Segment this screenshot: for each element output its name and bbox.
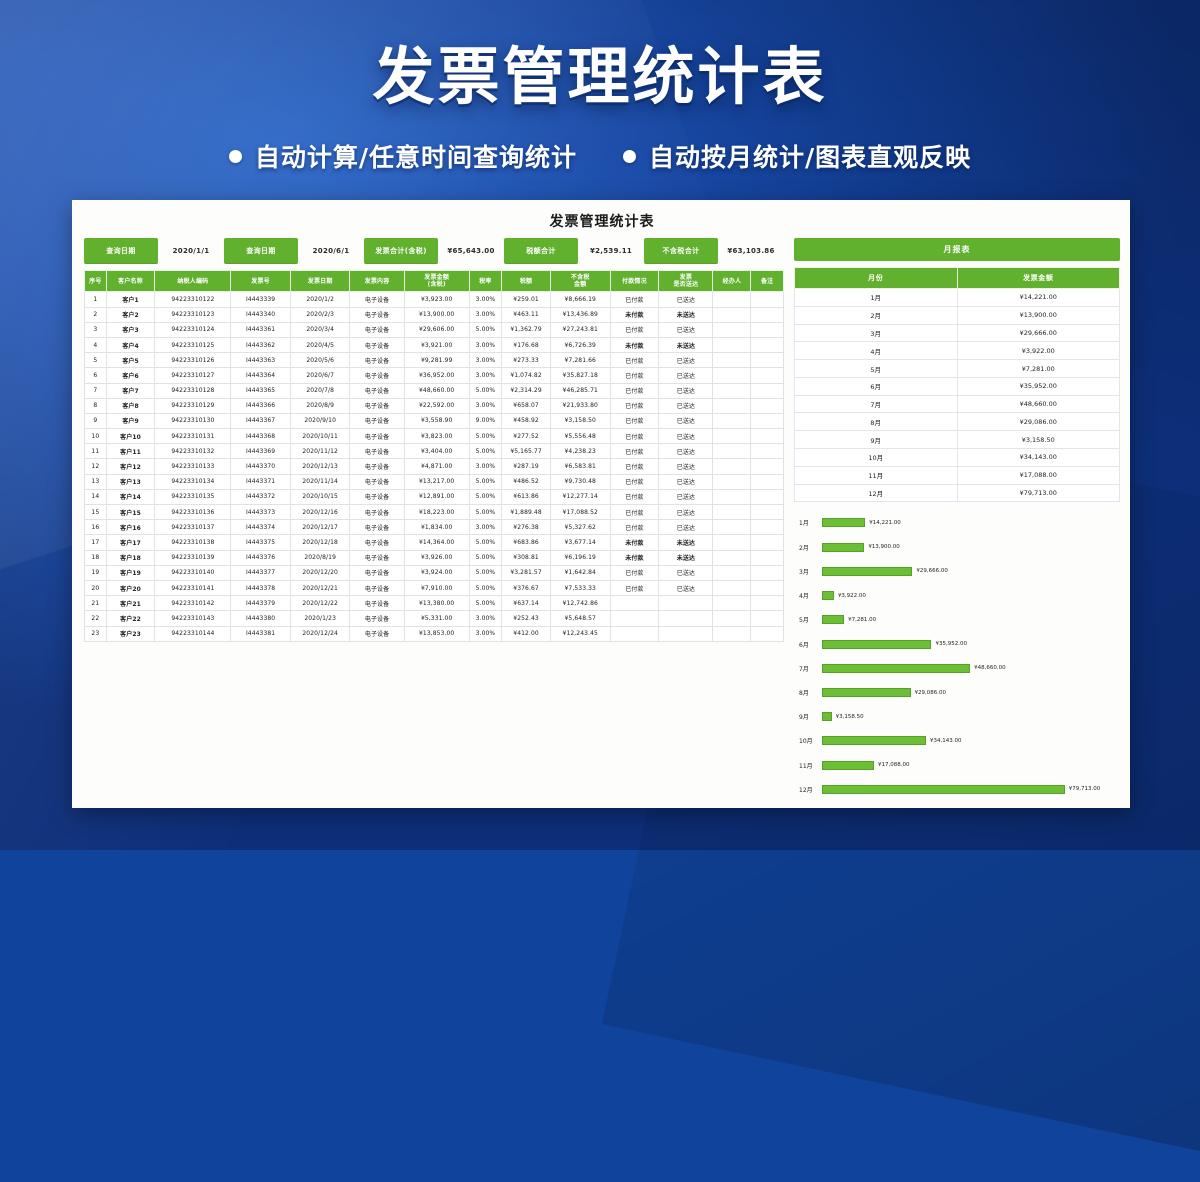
bar-data-label: ¥29,086.00 [915,690,947,696]
cell-7: 5.00% [469,550,502,565]
table-row[interactable]: 2客户294223310123I44433402020/2/3电子设备¥13,9… [85,307,784,322]
cell-3: I4443370 [231,459,291,474]
cell-8: ¥252.43 [502,611,551,626]
cell-0: 10 [85,429,107,444]
monthly-row[interactable]: 8月¥29,086.00 [795,413,1120,431]
cell-6: ¥3,558.90 [404,413,469,428]
cell-13 [751,626,784,641]
cell-8: ¥273.33 [502,353,551,368]
status-badge-delivery: 已送达 [659,459,713,474]
status-badge-payment: 已付款 [610,368,659,383]
cell-customer: 客户21 [106,596,155,611]
cell-customer: 客户5 [106,353,155,368]
cell-5: 电子设备 [350,535,404,550]
cell-8: ¥277.52 [502,429,551,444]
cell-4: 2020/11/12 [290,444,350,459]
cell-12 [713,368,751,383]
bar-category-label: 3月 [796,567,822,576]
table-row[interactable]: 5客户594223310126I44433632020/5/6电子设备¥9,28… [85,353,784,368]
status-badge-payment [610,596,659,611]
cell-customer: 客户23 [106,626,155,641]
status-badge-payment: 未付款 [610,535,659,550]
cell-6: ¥13,853.00 [404,626,469,641]
cell-4: 2020/9/10 [290,413,350,428]
cell-5: 电子设备 [350,459,404,474]
bar-data-label: ¥79,713.00 [1069,786,1101,792]
cell-0: 20 [85,580,107,595]
cell-5: 电子设备 [350,550,404,565]
cell-5: 电子设备 [350,383,404,398]
subtitle-text-1: 自动计算/任意时间查询统计 [255,138,577,174]
cell-4: 2020/3/4 [290,322,350,337]
cell-2: 94223310137 [155,520,231,535]
cell-12 [713,550,751,565]
cell-3: I4443368 [231,429,291,444]
cell-13 [751,489,784,504]
cell-4: 2020/12/16 [290,505,350,520]
cell-5: 电子设备 [350,520,404,535]
cell-4: 2020/12/24 [290,626,350,641]
table-row[interactable]: 12客户1294223310133I44433702020/12/13电子设备¥… [85,459,784,474]
status-badge-payment: 已付款 [610,429,659,444]
monthly-month: 1月 [795,289,958,307]
bar-category-label: 11月 [796,761,822,770]
cell-12 [713,535,751,550]
cell-customer: 客户20 [106,580,155,595]
table-row[interactable]: 14客户1494223310135I44433722020/10/15电子设备¥… [85,489,784,504]
bar-fill [822,785,1065,794]
status-badge-payment: 已付款 [610,398,659,413]
summary-label-1[interactable]: 查询日期 [224,238,298,264]
cell-13 [751,322,784,337]
cell-8: ¥463.11 [502,307,551,322]
status-badge-delivery: 已送达 [659,474,713,489]
cell-6: ¥13,900.00 [404,307,469,322]
monthly-amount: ¥35,952.00 [957,377,1120,395]
cell-13 [751,353,784,368]
cell-7: 5.00% [469,596,502,611]
cell-13 [751,307,784,322]
bar-data-label: ¥29,666.00 [916,568,948,574]
status-badge-delivery: 已送达 [659,368,713,383]
table-row[interactable]: 19客户1994223310140I44433772020/12/20电子设备¥… [85,565,784,580]
summary-label-2[interactable]: 发票合计(含税) [364,238,438,264]
invoice-col-header-12: 经办人 [713,271,751,292]
monthly-amount: ¥48,660.00 [957,395,1120,413]
invoice-table-body[interactable]: 1客户194223310122I44433392020/1/2电子设备¥3,92… [85,292,784,641]
cell-customer: 客户18 [106,550,155,565]
cell-7: 3.00% [469,520,502,535]
cell-13 [751,535,784,550]
cell-8: ¥412.00 [502,626,551,641]
status-badge-delivery [659,626,713,641]
table-row[interactable]: 21客户2194223310142I44433792020/12/22电子设备¥… [85,596,784,611]
bar-fill [822,615,844,624]
cell-8: ¥287.19 [502,459,551,474]
summary-label-3[interactable]: 税额合计 [504,238,578,264]
bar-track: ¥29,086.00 [822,686,1118,699]
cell-3: I4443381 [231,626,291,641]
bar-row: 4月¥3,922.00 [796,589,1118,602]
status-badge-delivery: 已送达 [659,565,713,580]
status-badge-payment: 已付款 [610,322,659,337]
cell-3: I4443367 [231,413,291,428]
cell-9: ¥12,742.86 [550,596,610,611]
invoice-col-header-8: 税额 [502,271,551,292]
summary-label-4[interactable]: 不含税合计 [644,238,718,264]
table-row[interactable]: 10客户1094223310131I44433682020/10/11电子设备¥… [85,429,784,444]
bar-category-label: 12月 [796,785,822,794]
cell-customer: 客户12 [106,459,155,474]
monthly-amount: ¥17,088.00 [957,466,1120,484]
cell-9: ¥6,726.39 [550,337,610,352]
cell-0: 19 [85,565,107,580]
invoice-table-header-row: 序号客户名称纳税人编码发票号发票日期发票内容发票金额(含税)税率税额不含税金额付… [85,271,784,292]
monthly-row[interactable]: 1月¥14,221.00 [795,289,1120,307]
status-badge-delivery: 未送达 [659,535,713,550]
cell-2: 94223310136 [155,505,231,520]
summary-value-0: 2020/1/1 [163,238,219,264]
cell-12 [713,459,751,474]
cell-0: 8 [85,398,107,413]
cell-7: 5.00% [469,383,502,398]
cell-9: ¥12,243.45 [550,626,610,641]
cell-6: ¥7,910.00 [404,580,469,595]
cell-8: ¥5,165.77 [502,444,551,459]
invoice-table-pane: 查询日期2020/1/1查询日期2020/6/1发票合计(含税)¥65,643.… [84,238,784,798]
table-row[interactable]: 11客户1194223310132I44433692020/11/12电子设备¥… [85,444,784,459]
cell-4: 2020/1/23 [290,611,350,626]
bar-track: ¥13,900.00 [822,541,1118,554]
monthly-summary-pane: 月报表 月份发票金额 1月¥14,221.002月¥13,900.003月¥29… [794,238,1120,798]
cell-customer: 客户11 [106,444,155,459]
cell-6: ¥3,404.00 [404,444,469,459]
cell-6: ¥9,281.99 [404,353,469,368]
cell-0: 9 [85,413,107,428]
monthly-month: 5月 [795,360,958,378]
cell-9: ¥4,238.23 [550,444,610,459]
cell-8: ¥3,281.57 [502,565,551,580]
cell-5: 电子设备 [350,489,404,504]
monthly-row[interactable]: 11月¥17,088.00 [795,466,1120,484]
monthly-bar-chart: 1月¥14,221.002月¥13,900.003月¥29,666.004月¥3… [794,512,1120,798]
monthly-amount: ¥79,713.00 [957,484,1120,502]
cell-13 [751,444,784,459]
status-badge-delivery [659,596,713,611]
table-row[interactable]: 3客户394223310124I44433612020/3/4电子设备¥29,6… [85,322,784,337]
status-badge-payment: 未付款 [610,307,659,322]
cell-3: I4443379 [231,596,291,611]
monthly-table: 月份发票金额 1月¥14,221.002月¥13,900.003月¥29,666… [794,267,1120,502]
cell-0: 11 [85,444,107,459]
status-badge-payment: 未付款 [610,550,659,565]
monthly-row[interactable]: 7月¥48,660.00 [795,395,1120,413]
cell-7: 5.00% [469,535,502,550]
bar-row: 6月¥35,952.00 [796,638,1118,651]
status-badge-payment: 已付款 [610,565,659,580]
bar-category-label: 5月 [796,615,822,624]
cell-4: 2020/10/15 [290,489,350,504]
cell-3: I4443374 [231,520,291,535]
cell-3: I4443361 [231,322,291,337]
status-badge-delivery: 已送达 [659,413,713,428]
cell-9: ¥46,285.71 [550,383,610,398]
cell-12 [713,353,751,368]
cell-5: 电子设备 [350,611,404,626]
cell-4: 2020/11/14 [290,474,350,489]
cell-12 [713,626,751,641]
cell-2: 94223310144 [155,626,231,641]
table-row[interactable]: 16客户1694223310137I44433742020/12/17电子设备¥… [85,520,784,535]
table-row[interactable]: 13客户1394223310134I44433712020/11/14电子设备¥… [85,474,784,489]
cell-0: 4 [85,337,107,352]
bar-row: 2月¥13,900.00 [796,541,1118,554]
status-badge-delivery [659,611,713,626]
bar-category-label: 7月 [796,664,822,673]
cell-8: ¥1,889.48 [502,505,551,520]
summary-label-0[interactable]: 查询日期 [84,238,158,264]
subtitle-item-1: 自动计算/任意时间查询统计 [229,138,577,174]
cell-4: 2020/12/17 [290,520,350,535]
cell-12 [713,398,751,413]
bar-fill [822,591,834,600]
bar-track: ¥48,660.00 [822,662,1118,675]
cell-5: 电子设备 [350,292,404,307]
cell-6: ¥3,823.00 [404,429,469,444]
cell-customer: 客户4 [106,337,155,352]
cell-0: 21 [85,596,107,611]
cell-4: 2020/12/20 [290,565,350,580]
cell-9: ¥17,088.52 [550,505,610,520]
cell-5: 电子设备 [350,429,404,444]
cell-8: ¥308.81 [502,550,551,565]
cell-5: 电子设备 [350,337,404,352]
cell-2: 94223310142 [155,596,231,611]
invoice-col-header-9: 不含税金额 [550,271,610,292]
bar-track: ¥17,088.00 [822,759,1118,772]
cell-customer: 客户9 [106,413,155,428]
status-badge-payment: 未付款 [610,337,659,352]
cell-6: ¥12,891.00 [404,489,469,504]
cell-7: 3.00% [469,337,502,352]
cell-12 [713,611,751,626]
cell-6: ¥13,380.00 [404,596,469,611]
cell-3: I4443369 [231,444,291,459]
cell-9: ¥7,281.66 [550,353,610,368]
cell-6: ¥3,926.00 [404,550,469,565]
subtitle-row: 自动计算/任意时间查询统计 自动按月统计/图表直观反映 [0,138,1200,174]
monthly-row[interactable]: 5月¥7,281.00 [795,360,1120,378]
cell-2: 94223310127 [155,368,231,383]
cell-customer: 客户1 [106,292,155,307]
monthly-amount: ¥29,086.00 [957,413,1120,431]
cell-5: 电子设备 [350,368,404,383]
cell-6: ¥3,923.00 [404,292,469,307]
table-row[interactable]: 23客户2394223310144I44433812020/12/24电子设备¥… [85,626,784,641]
bar-track: ¥3,158.50 [822,710,1118,723]
summary-bar: 查询日期2020/1/1查询日期2020/6/1发票合计(含税)¥65,643.… [84,238,784,264]
cell-0: 18 [85,550,107,565]
status-badge-delivery: 已送达 [659,505,713,520]
cell-5: 电子设备 [350,444,404,459]
cell-12 [713,429,751,444]
bar-category-label: 10月 [796,736,822,745]
cell-2: 94223310135 [155,489,231,504]
bar-row: 3月¥29,666.00 [796,565,1118,578]
cell-6: ¥22,592.00 [404,398,469,413]
bar-fill [822,712,832,721]
status-badge-payment: 已付款 [610,520,659,535]
monthly-table-head: 月份发票金额 [795,268,1120,289]
cell-4: 2020/12/22 [290,596,350,611]
cell-customer: 客户7 [106,383,155,398]
monthly-amount: ¥34,143.00 [957,449,1120,467]
cell-9: ¥6,583.81 [550,459,610,474]
cell-3: I4443375 [231,535,291,550]
cell-3: I4443340 [231,307,291,322]
cell-9: ¥5,556.48 [550,429,610,444]
cell-13 [751,474,784,489]
cell-customer: 客户3 [106,322,155,337]
monthly-month: 10月 [795,449,958,467]
subtitle-text-2: 自动按月统计/图表直观反映 [649,138,971,174]
bar-row: 5月¥7,281.00 [796,613,1118,626]
monthly-amount: ¥29,666.00 [957,324,1120,342]
bar-row: 9月¥3,158.50 [796,710,1118,723]
table-row[interactable]: 18客户1894223310139I44433762020/8/19电子设备¥3… [85,550,784,565]
cell-5: 电子设备 [350,307,404,322]
cell-4: 2020/4/5 [290,337,350,352]
cell-12 [713,337,751,352]
invoice-col-header-11: 发票是否送达 [659,271,713,292]
bar-fill [822,567,912,576]
status-badge-payment: 已付款 [610,353,659,368]
bar-category-label: 6月 [796,640,822,649]
table-row[interactable]: 7客户794223310128I44433652020/7/8电子设备¥48,6… [85,383,784,398]
monthly-row[interactable]: 4月¥3,922.00 [795,342,1120,360]
bar-track: ¥3,922.00 [822,589,1118,602]
status-badge-delivery: 已送达 [659,292,713,307]
status-badge-delivery: 已送达 [659,520,713,535]
cell-0: 22 [85,611,107,626]
cell-3: I4443365 [231,383,291,398]
status-badge-delivery: 已送达 [659,353,713,368]
invoice-col-header-3: 发票号 [231,271,291,292]
cell-8: ¥259.01 [502,292,551,307]
table-row[interactable]: 17客户1794223310138I44433752020/12/18电子设备¥… [85,535,784,550]
monthly-row[interactable]: 6月¥35,952.00 [795,377,1120,395]
cell-7: 5.00% [469,489,502,504]
cell-13 [751,383,784,398]
monthly-amount: ¥13,900.00 [957,306,1120,324]
cell-0: 16 [85,520,107,535]
cell-9: ¥12,277.14 [550,489,610,504]
cell-customer: 客户6 [106,368,155,383]
cell-0: 23 [85,626,107,641]
cell-2: 94223310131 [155,429,231,444]
status-badge-delivery: 未送达 [659,337,713,352]
cell-5: 电子设备 [350,596,404,611]
invoice-col-header-5: 发票内容 [350,271,404,292]
cell-6: ¥1,834.00 [404,520,469,535]
table-row[interactable]: 15客户1594223310136I44433732020/12/16电子设备¥… [85,505,784,520]
cell-8: ¥176.68 [502,337,551,352]
cell-8: ¥2,314.29 [502,383,551,398]
monthly-row[interactable]: 3月¥29,666.00 [795,324,1120,342]
table-row[interactable]: 4客户494223310125I44433622020/4/5电子设备¥3,92… [85,337,784,352]
table-row[interactable]: 20客户2094223310141I44433782020/12/21电子设备¥… [85,580,784,595]
cell-2: 94223310134 [155,474,231,489]
table-row[interactable]: 22客户2294223310143I44433802020/1/23电子设备¥5… [85,611,784,626]
cell-8: ¥613.86 [502,489,551,504]
table-row[interactable]: 1客户194223310122I44433392020/1/2电子设备¥3,92… [85,292,784,307]
table-row[interactable]: 6客户694223310127I44433642020/6/7电子设备¥36,9… [85,368,784,383]
monthly-row[interactable]: 10月¥34,143.00 [795,449,1120,467]
cell-7: 3.00% [469,307,502,322]
monthly-month: 4月 [795,342,958,360]
invoice-col-header-4: 发票日期 [290,271,350,292]
cell-13 [751,459,784,474]
cell-3: I4443363 [231,353,291,368]
bar-fill [822,543,864,552]
summary-value-1: 2020/6/1 [303,238,359,264]
monthly-month: 11月 [795,466,958,484]
cell-13 [751,292,784,307]
summary-value-2: ¥65,643.00 [443,238,499,264]
bar-row: 12月¥79,713.00 [796,783,1118,796]
cell-2: 94223310138 [155,535,231,550]
cell-13 [751,505,784,520]
bar-fill [822,761,874,770]
bar-fill [822,640,931,649]
status-badge-delivery: 已送达 [659,398,713,413]
cell-0: 17 [85,535,107,550]
cell-7: 3.00% [469,626,502,641]
cell-6: ¥14,364.00 [404,535,469,550]
cell-12 [713,505,751,520]
monthly-row[interactable]: 9月¥3,158.50 [795,431,1120,449]
bar-row: 11月¥17,088.00 [796,759,1118,772]
monthly-table-body[interactable]: 1月¥14,221.002月¥13,900.003月¥29,666.004月¥3… [795,289,1120,502]
cell-12 [713,520,751,535]
table-row[interactable]: 9客户994223310130I44433672020/9/10电子设备¥3,5… [85,413,784,428]
monthly-amount: ¥3,158.50 [957,431,1120,449]
table-row[interactable]: 8客户894223310129I44433662020/8/9电子设备¥22,5… [85,398,784,413]
cell-customer: 客户17 [106,535,155,550]
status-badge-payment: 已付款 [610,489,659,504]
bar-data-label: ¥34,143.00 [930,738,962,744]
cell-2: 94223310125 [155,337,231,352]
cell-6: ¥48,660.00 [404,383,469,398]
bullet-dot-icon [229,150,242,163]
monthly-row[interactable]: 12月¥79,713.00 [795,484,1120,502]
monthly-row[interactable]: 2月¥13,900.00 [795,306,1120,324]
bar-data-label: ¥3,158.50 [836,714,864,720]
bar-data-label: ¥13,900.00 [868,544,900,550]
cell-5: 电子设备 [350,353,404,368]
cell-3: I4443339 [231,292,291,307]
cell-7: 9.00% [469,413,502,428]
cell-5: 电子设备 [350,398,404,413]
cell-7: 5.00% [469,565,502,580]
monthly-month: 9月 [795,431,958,449]
cell-customer: 客户19 [106,565,155,580]
status-badge-delivery: 已送达 [659,444,713,459]
bar-track: ¥35,952.00 [822,638,1118,651]
invoice-col-header-6: 发票金额(含税) [404,271,469,292]
cell-4: 2020/12/13 [290,459,350,474]
bar-data-label: ¥17,088.00 [878,762,910,768]
